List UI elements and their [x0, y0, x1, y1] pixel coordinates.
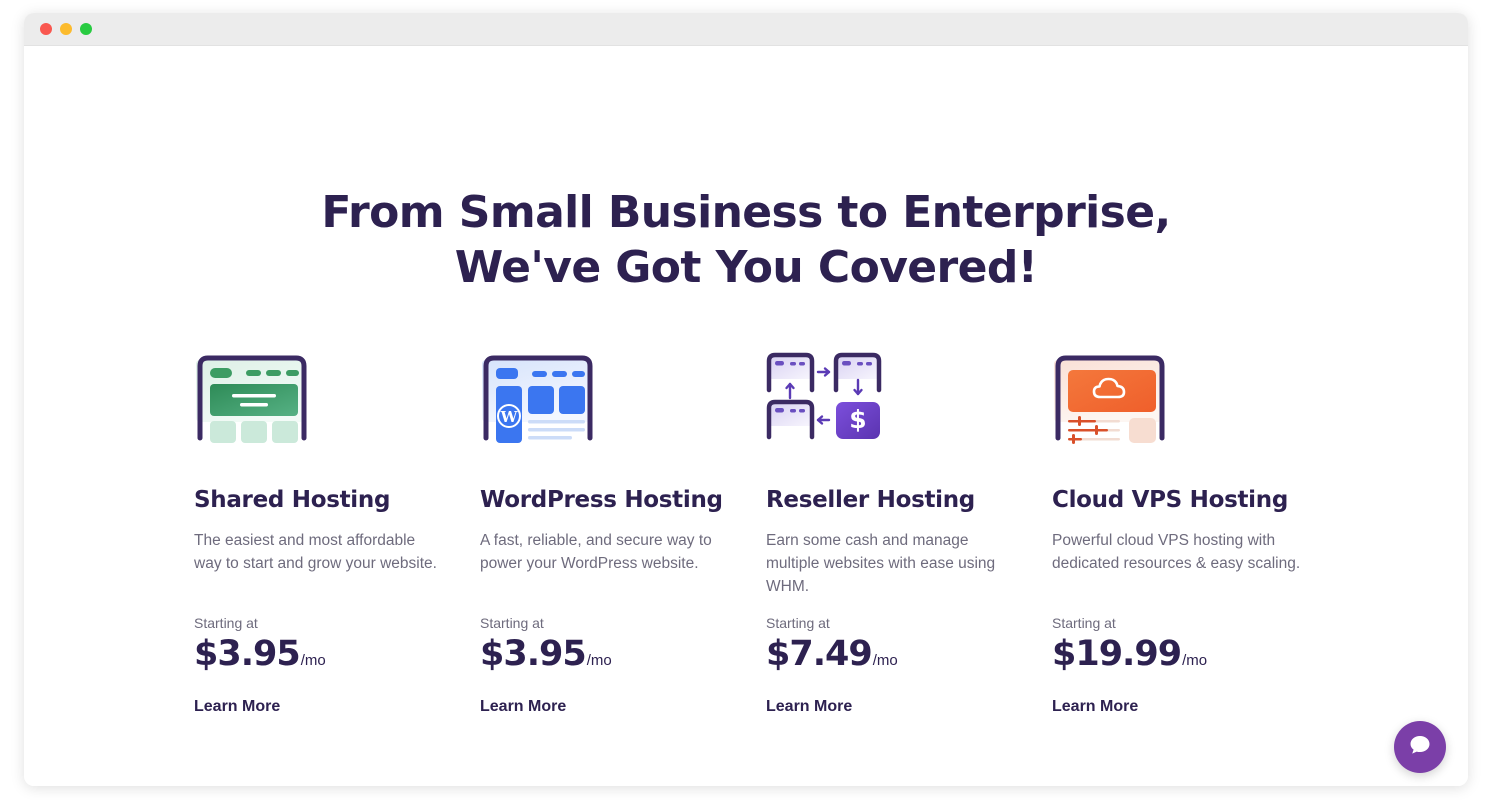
svg-text:$: $	[849, 405, 866, 434]
plan-price-row: $7.49 /mo	[766, 635, 898, 673]
maximize-window-icon[interactable]	[80, 23, 92, 35]
plan-description: Earn some cash and manage multiple websi…	[766, 529, 1016, 598]
plan-price-period: /mo	[301, 652, 326, 669]
plan-icon-wrap: $	[766, 328, 1052, 446]
plan-title: WordPress Hosting	[480, 486, 766, 514]
chat-widget-button[interactable]	[1394, 721, 1446, 773]
svg-text:W: W	[500, 408, 519, 426]
plan-price-row: $3.95 /mo	[194, 635, 326, 673]
plan-starting-label: Starting at	[766, 614, 898, 632]
window-controls	[40, 13, 92, 45]
plan-card-cloud-vps-hosting: Cloud VPS Hosting Powerful cloud VPS hos…	[1052, 328, 1338, 598]
page-content: From Small Business to Enterprise, We've…	[24, 46, 1468, 786]
plan-price-period: /mo	[587, 652, 612, 669]
learn-more-link[interactable]: Learn More	[766, 698, 852, 716]
plan-title: Reseller Hosting	[766, 486, 1052, 514]
close-window-icon[interactable]	[40, 23, 52, 35]
plan-price-period: /mo	[1182, 652, 1207, 669]
plan-price-row: $3.95 /mo	[480, 635, 612, 673]
learn-more-link[interactable]: Learn More	[194, 698, 280, 716]
minimize-window-icon[interactable]	[60, 23, 72, 35]
plan-price: $19.99	[1052, 635, 1181, 673]
shared-hosting-icon	[194, 346, 314, 446]
plan-card-wordpress-hosting: W WordPress Hosting A	[480, 328, 766, 598]
hosting-plans-grid: Shared Hosting The easiest and most affo…	[194, 328, 1374, 598]
page-title-line-2: We've Got You Covered!	[24, 240, 1468, 295]
plan-icon-wrap: W	[480, 328, 766, 446]
plan-price-block: Starting at $3.95 /mo	[480, 614, 612, 673]
page-root: From Small Business to Enterprise, We've…	[0, 0, 1492, 800]
learn-more-link[interactable]: Learn More	[480, 698, 566, 716]
plan-price: $3.95	[194, 635, 300, 673]
learn-more-link[interactable]: Learn More	[1052, 698, 1138, 716]
reseller-hosting-icon: $	[766, 346, 886, 446]
plan-starting-label: Starting at	[1052, 614, 1207, 632]
plan-starting-label: Starting at	[480, 614, 612, 632]
plan-description: Powerful cloud VPS hosting with dedicate…	[1052, 529, 1302, 575]
plan-icon-wrap	[1052, 328, 1338, 446]
plan-card-reseller-hosting: $	[766, 328, 1052, 598]
plan-icon-wrap	[194, 328, 480, 446]
page-title-line-1: From Small Business to Enterprise,	[321, 187, 1170, 238]
wordpress-hosting-icon: W	[480, 346, 600, 446]
plan-price-block: Starting at $3.95 /mo	[194, 614, 326, 673]
plan-price-block: Starting at $7.49 /mo	[766, 614, 898, 673]
plan-description: The easiest and most affordable way to s…	[194, 529, 444, 575]
plan-starting-label: Starting at	[194, 614, 326, 632]
plan-title: Shared Hosting	[194, 486, 480, 514]
chat-bubble-icon	[1407, 732, 1433, 763]
browser-title-bar	[24, 13, 1468, 46]
cloud-vps-hosting-icon	[1052, 346, 1172, 446]
plan-price-period: /mo	[873, 652, 898, 669]
plan-title: Cloud VPS Hosting	[1052, 486, 1338, 514]
page-title: From Small Business to Enterprise, We've…	[24, 185, 1468, 295]
plan-card-shared-hosting: Shared Hosting The easiest and most affo…	[194, 328, 480, 598]
plan-price-row: $19.99 /mo	[1052, 635, 1207, 673]
plan-price-block: Starting at $19.99 /mo	[1052, 614, 1207, 673]
browser-window: From Small Business to Enterprise, We've…	[24, 13, 1468, 786]
plan-price: $3.95	[480, 635, 586, 673]
plan-description: A fast, reliable, and secure way to powe…	[480, 529, 730, 575]
plan-price: $7.49	[766, 635, 872, 673]
